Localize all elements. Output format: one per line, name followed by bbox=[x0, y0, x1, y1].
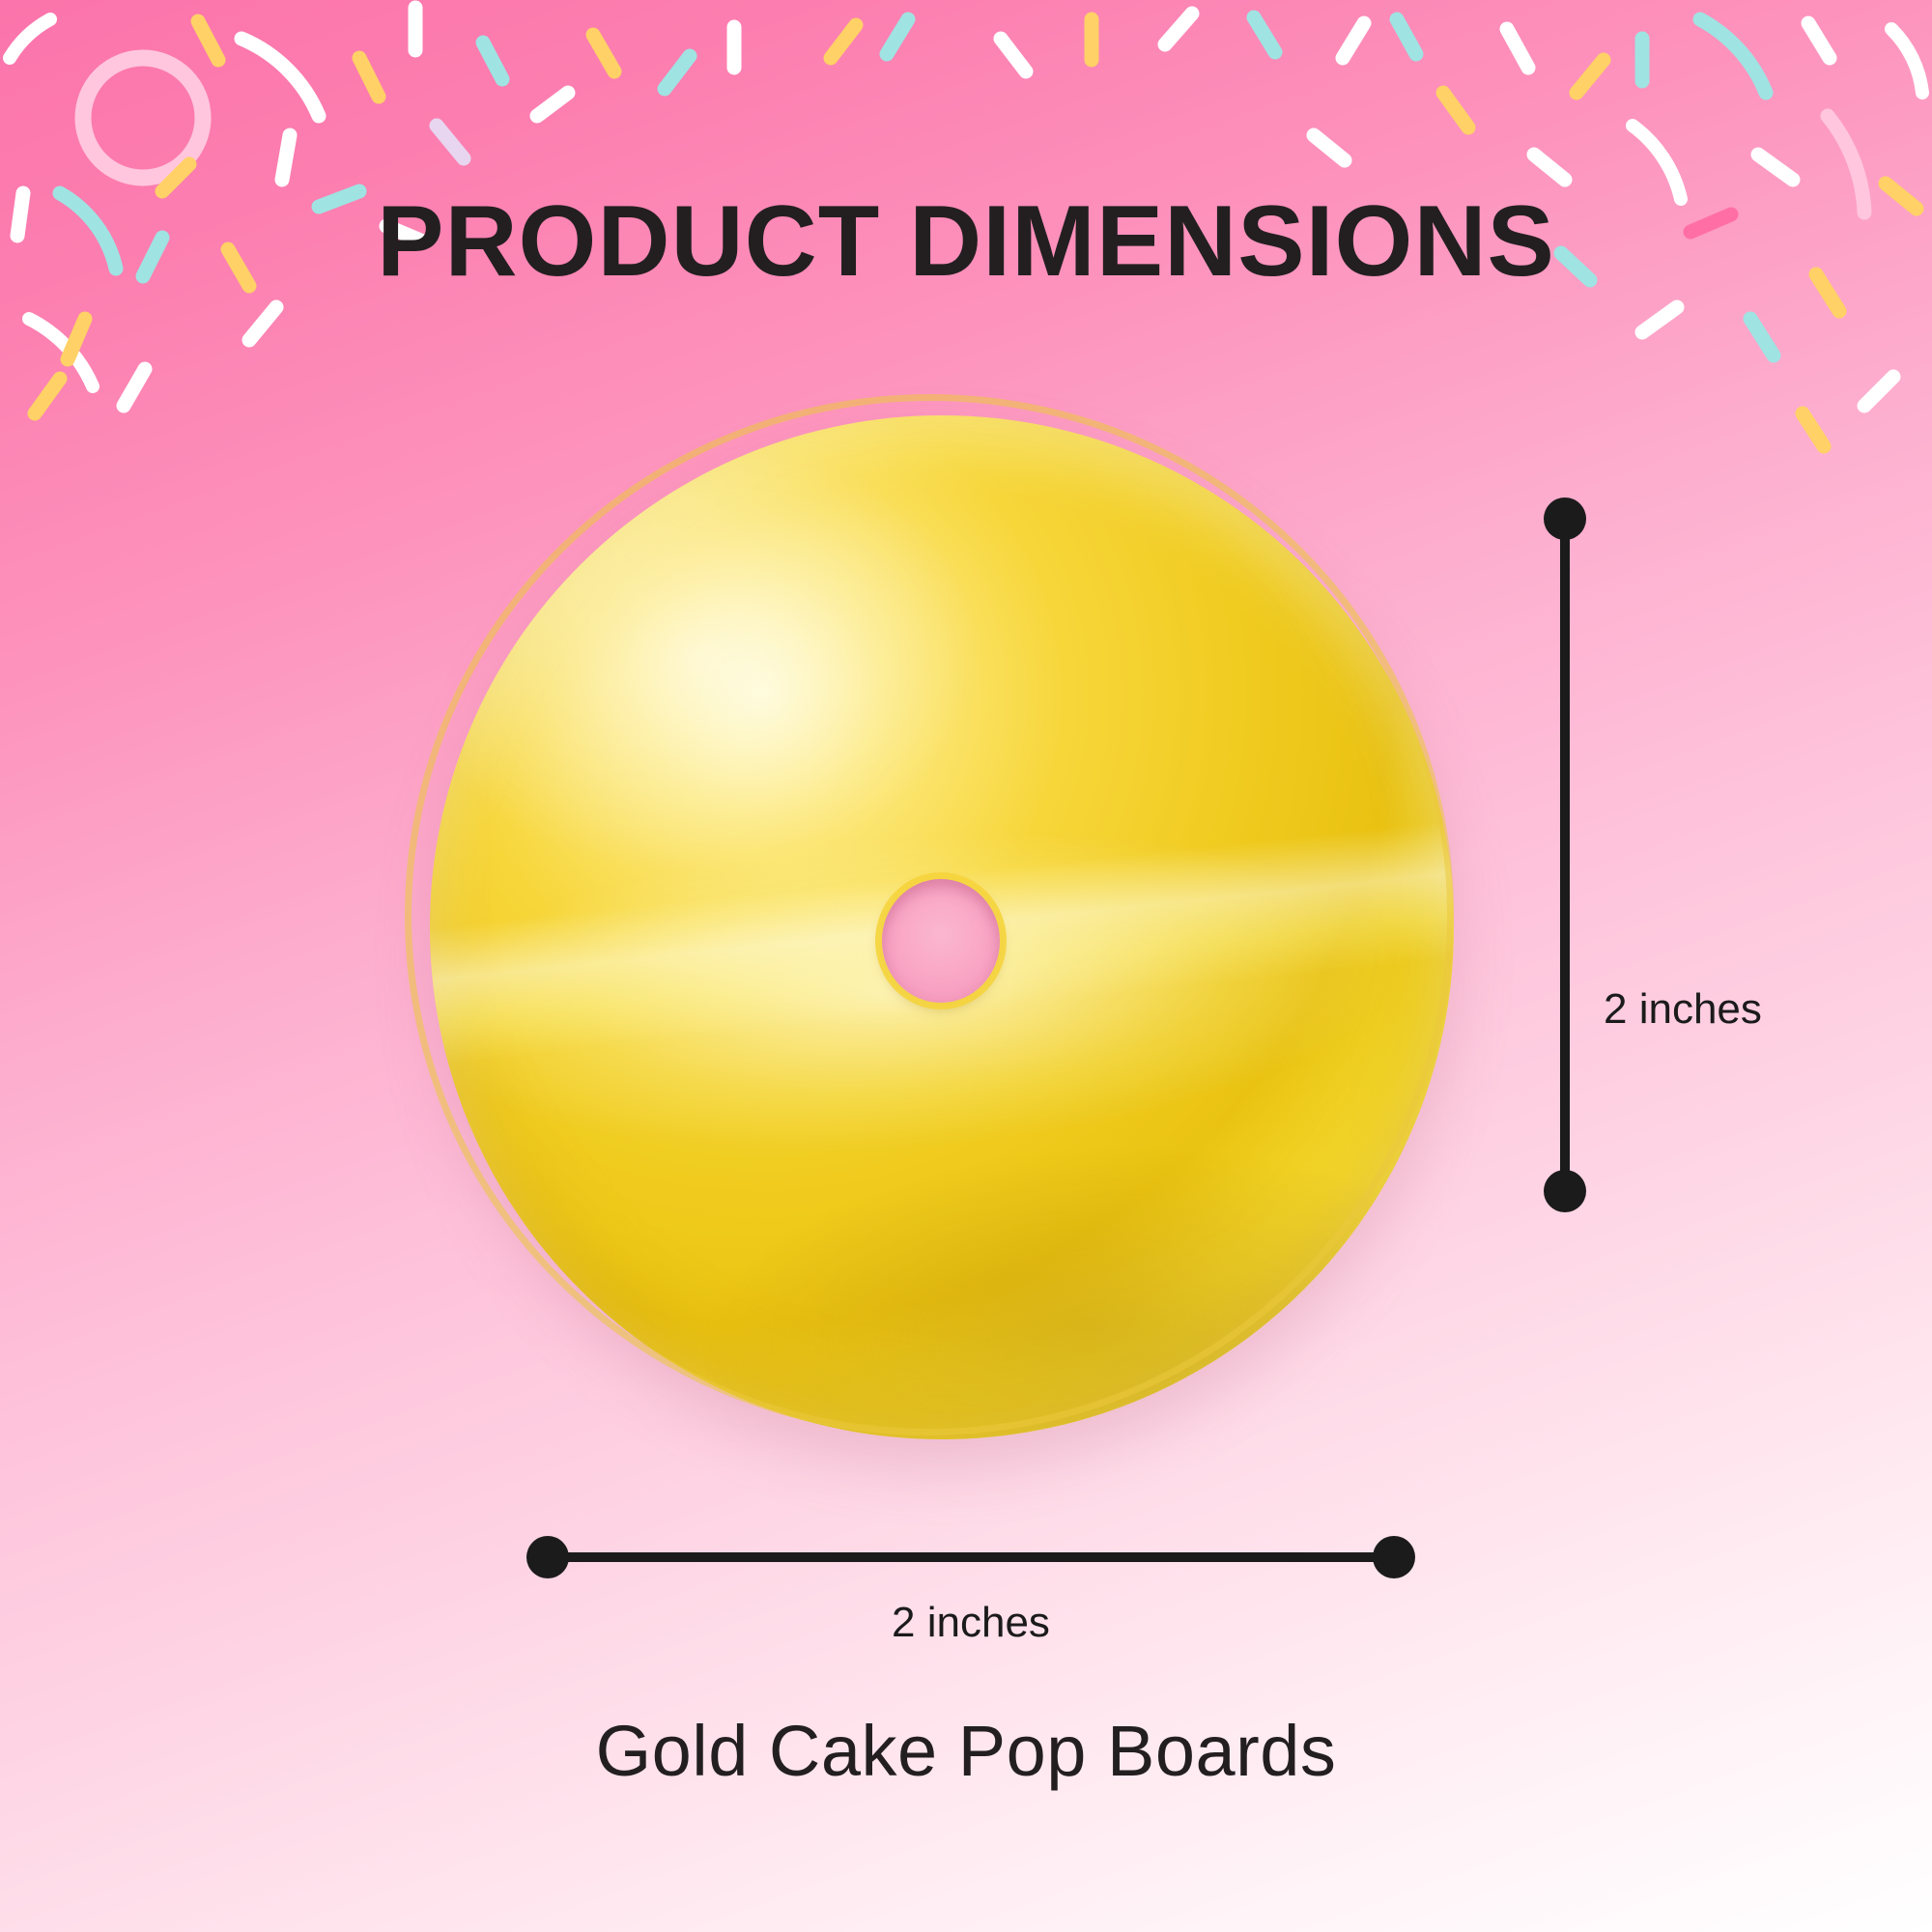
disc-center-hole bbox=[882, 879, 1000, 1003]
product-caption: Gold Cake Pop Boards bbox=[0, 1710, 1932, 1792]
horizontal-dimension-label: 2 inches bbox=[526, 1599, 1415, 1647]
vertical-dimension-bar bbox=[1560, 519, 1570, 1191]
product-image bbox=[411, 396, 1497, 1497]
vertical-dimension-label: 2 inches bbox=[1604, 985, 1762, 1034]
product-dimensions-graphic: PRODUCT DIMENSIONS 2 inches 2 inches Gol… bbox=[0, 0, 1932, 1932]
horizontal-dimension-bar bbox=[548, 1552, 1394, 1562]
horizontal-dimension-endpoint-right bbox=[1373, 1536, 1415, 1578]
vertical-dimension-endpoint-bottom bbox=[1544, 1170, 1586, 1212]
vertical-dimension-line bbox=[1544, 497, 1586, 1212]
horizontal-dimension-line bbox=[526, 1536, 1415, 1578]
page-title: PRODUCT DIMENSIONS bbox=[0, 191, 1932, 292]
